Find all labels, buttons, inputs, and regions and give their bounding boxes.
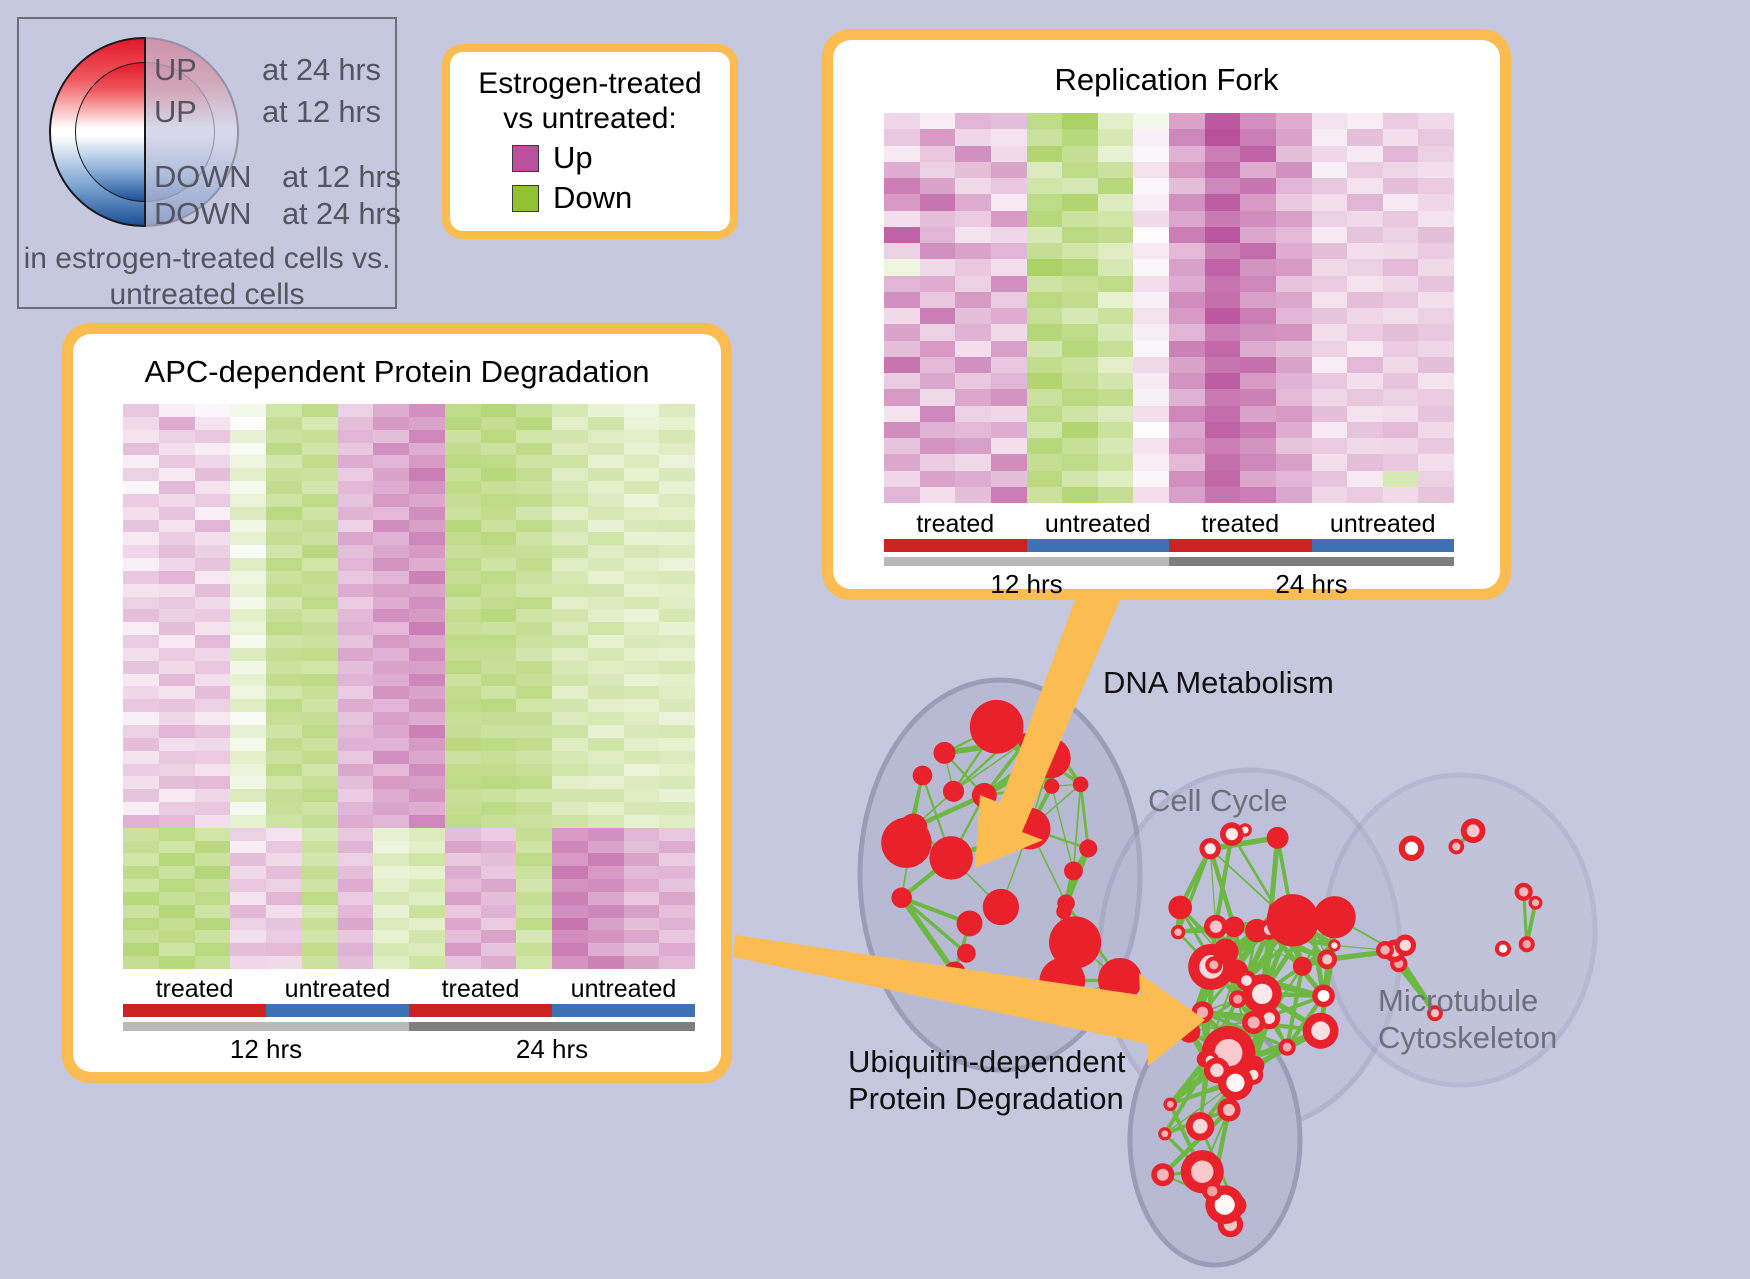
- network-node[interactable]: [1399, 835, 1425, 861]
- network-node[interactable]: [970, 700, 1024, 754]
- treatment-bar-segment: [552, 1004, 695, 1017]
- heatmap-cell: [1098, 162, 1134, 178]
- heatmap-cell: [409, 892, 445, 905]
- heatmap-cell: [195, 532, 231, 545]
- heatmap-cell: [230, 417, 266, 430]
- heatmap-cell: [588, 879, 624, 892]
- heatmap-cell: [1418, 438, 1454, 454]
- heatmap-cell: [920, 194, 956, 210]
- heatmap-cell: [659, 532, 695, 545]
- network-node[interactable]: [1204, 1057, 1230, 1083]
- heatmap-cell: [588, 686, 624, 699]
- heatmap-cell: [230, 532, 266, 545]
- heatmap-cell: [991, 227, 1027, 243]
- heatmap-cell: [481, 879, 517, 892]
- network-node[interactable]: [1199, 838, 1220, 859]
- heatmap-cell: [955, 243, 991, 259]
- node-inner: [1226, 828, 1238, 840]
- network-node[interactable]: [1312, 984, 1335, 1007]
- heatmap-cell: [123, 764, 159, 777]
- heatmap-cell: [159, 443, 195, 456]
- network-node[interactable]: [944, 962, 966, 984]
- heatmap-cell: [195, 686, 231, 699]
- heatmap-cell: [338, 494, 374, 507]
- heatmap-cell: [884, 243, 920, 259]
- heatmap-cell: [338, 828, 374, 841]
- heatmap-cell: [123, 609, 159, 622]
- heatmap-cell: [1383, 227, 1419, 243]
- heatmap-cell: [338, 853, 374, 866]
- cluster-label-microtubule-cytoskeleton: Microtubule Cytoskeleton: [1378, 982, 1557, 1056]
- heatmap-cell: [588, 417, 624, 430]
- network-node[interactable]: [929, 836, 972, 879]
- network-node[interactable]: [1267, 827, 1289, 849]
- heatmap-cell: [1169, 276, 1205, 292]
- heatmap-cell: [338, 532, 374, 545]
- heatmap-cell: [552, 507, 588, 520]
- heatmap-cell: [552, 853, 588, 866]
- heatmap-cell: [1169, 243, 1205, 259]
- heatmap-cell: [1312, 276, 1348, 292]
- heatmap-cell: [373, 609, 409, 622]
- heatmap-cell: [1276, 178, 1312, 194]
- heatmap-cell: [659, 930, 695, 943]
- timepoint-labels: 12 hrs24 hrs: [123, 1034, 695, 1065]
- axis-group-label: treated: [409, 975, 552, 1004]
- heatmap-cell: [373, 494, 409, 507]
- heatmap-cell: [1347, 487, 1383, 503]
- heatmap-cell: [552, 609, 588, 622]
- heatmap-cell: [302, 443, 338, 456]
- network-node[interactable]: [943, 781, 964, 802]
- network-node[interactable]: [1519, 936, 1535, 952]
- network-node[interactable]: [913, 766, 933, 786]
- heatmap-cell: [159, 455, 195, 468]
- heatmap-cell: [588, 956, 624, 969]
- heatmap-cell: [1383, 471, 1419, 487]
- heatmap-cell: [624, 635, 660, 648]
- heatmap-cell: [230, 520, 266, 533]
- node-inner: [1499, 944, 1507, 952]
- heatmap-cell: [481, 635, 517, 648]
- heatmap-cell: [588, 943, 624, 956]
- heatmap-cell: [159, 686, 195, 699]
- heatmap-cell: [552, 622, 588, 635]
- node-outer: [929, 836, 972, 879]
- heatmap-cell: [1347, 243, 1383, 259]
- heatmap-cell: [481, 776, 517, 789]
- network-node[interactable]: [1314, 896, 1356, 938]
- heatmap-cell: [955, 341, 991, 357]
- heatmap-cell: [338, 943, 374, 956]
- heatmap-cell: [991, 471, 1027, 487]
- heatmap-cell: [159, 879, 195, 892]
- heatmap-cell: [991, 422, 1027, 438]
- heatmap-cell: [1133, 308, 1169, 324]
- heatmap-cell: [373, 430, 409, 443]
- heatmap-cell: [195, 545, 231, 558]
- network-node[interactable]: [1168, 896, 1192, 920]
- heatmap-cell: [516, 930, 552, 943]
- heatmap-cell: [659, 648, 695, 661]
- heatmap-cell: [884, 178, 920, 194]
- heatmap-cell: [1027, 129, 1063, 145]
- heatmap-cell: [195, 866, 231, 879]
- heatmap-cell: [1169, 406, 1205, 422]
- network-node[interactable]: [1224, 917, 1245, 938]
- heatmap-cell: [552, 828, 588, 841]
- heatmap-cell: [624, 789, 660, 802]
- network-node[interactable]: [1079, 839, 1097, 857]
- heatmap-cell: [195, 905, 231, 918]
- heatmap-cell: [266, 751, 302, 764]
- heatmap-cell: [1133, 438, 1169, 454]
- heatmap-cell: [373, 584, 409, 597]
- heatmap-cell: [1062, 129, 1098, 145]
- heatmap-cell: [516, 866, 552, 879]
- heatmap-cell: [195, 802, 231, 815]
- network-node[interactable]: [1529, 896, 1543, 910]
- heatmap-cell: [516, 751, 552, 764]
- network-node[interactable]: [1220, 822, 1244, 846]
- network-node[interactable]: [1163, 1097, 1177, 1111]
- heatmap-cell: [920, 422, 956, 438]
- heatmap-cell: [1062, 292, 1098, 308]
- network-node[interactable]: [933, 742, 955, 764]
- network-node[interactable]: [972, 783, 997, 808]
- heatmap-cell: [302, 764, 338, 777]
- panel-apc-card: APC-dependent Protein Degradation treate…: [73, 334, 721, 1072]
- network-node[interactable]: [1303, 1013, 1339, 1049]
- heatmap-cell: [409, 494, 445, 507]
- heatmap-cell: [266, 584, 302, 597]
- network-node[interactable]: [1267, 894, 1319, 946]
- heatmap-cell: [302, 802, 338, 815]
- heatmap-cell: [195, 635, 231, 648]
- heatmap-cell: [1062, 113, 1098, 129]
- heatmap-cell: [373, 699, 409, 712]
- heatmap-cell: [159, 751, 195, 764]
- network-node[interactable]: [1009, 808, 1051, 850]
- network-node[interactable]: [1151, 1163, 1174, 1186]
- network-node[interactable]: [891, 888, 912, 909]
- heatmap-cell: [552, 879, 588, 892]
- heatmap-cell: [123, 879, 159, 892]
- heatmap-cell: [195, 622, 231, 635]
- heatmap-cell: [1418, 292, 1454, 308]
- network-node[interactable]: [1461, 818, 1486, 843]
- network-node[interactable]: [1394, 935, 1416, 957]
- heatmap-cell: [159, 866, 195, 879]
- heatmap-cell: [624, 545, 660, 558]
- heatmap-cell: [1098, 259, 1134, 275]
- heatmap-cell: [1133, 194, 1169, 210]
- heatmap-cell: [373, 520, 409, 533]
- heatmap-cell: [588, 532, 624, 545]
- heatmap-cell: [1347, 341, 1383, 357]
- heatmap-cell: [1383, 308, 1419, 324]
- heatmap-cell: [409, 571, 445, 584]
- down-legend-label: Down: [553, 180, 632, 216]
- heatmap-cell: [445, 751, 481, 764]
- heatmap-cell: [1312, 146, 1348, 162]
- heatmap-cell: [516, 597, 552, 610]
- heatmap-cell: [123, 776, 159, 789]
- network-node[interactable]: [1236, 970, 1256, 990]
- heatmap-cell: [373, 545, 409, 558]
- axis-group-label: treated: [884, 510, 1027, 539]
- panel-replication-fork-card: Replication Fork treateduntreatedtreated…: [833, 40, 1500, 589]
- heatmap-cell: [1383, 194, 1419, 210]
- network-node[interactable]: [1217, 1098, 1240, 1121]
- heatmap-cell: [1418, 389, 1454, 405]
- heatmap-cell: [302, 905, 338, 918]
- heatmap-cell: [1276, 113, 1312, 129]
- heatmap-cell: [1133, 389, 1169, 405]
- heatmap-cell: [588, 648, 624, 661]
- heatmap-cell: [624, 648, 660, 661]
- heatmap-cell: [1133, 422, 1169, 438]
- heatmap-cell: [123, 738, 159, 751]
- network-node[interactable]: [899, 813, 927, 841]
- heatmap-cell: [1240, 243, 1276, 259]
- heatmap-cell: [123, 494, 159, 507]
- timepoint-bar: [884, 557, 1454, 566]
- network-node[interactable]: [957, 944, 976, 963]
- heatmap-cell: [195, 853, 231, 866]
- heatmap-cell: [445, 520, 481, 533]
- heatmap-cell: [516, 481, 552, 494]
- heatmap-cell: [481, 404, 517, 417]
- network-node[interactable]: [1328, 939, 1340, 951]
- heatmap-cell: [516, 571, 552, 584]
- node-inner: [1331, 942, 1337, 948]
- heatmap-cell: [338, 507, 374, 520]
- treatment-bar-segment: [266, 1004, 409, 1017]
- heatmap-cell: [624, 776, 660, 789]
- network-node[interactable]: [1158, 1127, 1171, 1140]
- heatmap-cell: [445, 622, 481, 635]
- heatmap-cell: [1418, 357, 1454, 373]
- heatmap-cell: [266, 712, 302, 725]
- heatmap-cell: [920, 178, 956, 194]
- heatmap-cell: [552, 738, 588, 751]
- heatmap-cell: [1169, 438, 1205, 454]
- heatmap-cell: [991, 308, 1027, 324]
- heatmap-cell: [1062, 454, 1098, 470]
- heatmap-cell: [1312, 324, 1348, 340]
- network-node[interactable]: [1044, 779, 1059, 794]
- heatmap-cell: [1027, 211, 1063, 227]
- heatmap-cell: [1347, 276, 1383, 292]
- heatmap-cell: [624, 943, 660, 956]
- heatmap-cell: [409, 802, 445, 815]
- network-node[interactable]: [1171, 925, 1185, 939]
- heatmap-cell: [1098, 324, 1134, 340]
- heatmap-cell: [1098, 373, 1134, 389]
- heatmap-cell: [1062, 406, 1098, 422]
- heatmap-cell: [302, 725, 338, 738]
- heatmap-cell: [1312, 227, 1348, 243]
- heatmap-cell: [659, 430, 695, 443]
- node-inner: [1241, 975, 1252, 986]
- network-node[interactable]: [1229, 990, 1247, 1008]
- heatmap-cell: [159, 712, 195, 725]
- heatmap-cell: [1383, 276, 1419, 292]
- heatmap-cell: [481, 918, 517, 931]
- node-inner: [1311, 1021, 1330, 1040]
- heatmap-cell: [884, 113, 920, 129]
- heatmap-cell: [159, 776, 195, 789]
- legend-up-12-label: UP: [154, 94, 197, 130]
- heatmap-cell: [588, 725, 624, 738]
- heatmap-cell: [445, 417, 481, 430]
- heatmap-cell: [338, 520, 374, 533]
- heatmap-cell: [445, 841, 481, 854]
- heatmap-cell: [1133, 113, 1169, 129]
- heatmap-cell: [1312, 471, 1348, 487]
- legend-down-12-label: DOWN: [154, 159, 251, 195]
- heatmap-cell: [1205, 422, 1241, 438]
- heatmap-cell: [588, 930, 624, 943]
- heatmap-cell: [230, 468, 266, 481]
- network-node[interactable]: [1057, 894, 1075, 912]
- heatmap-cell: [588, 545, 624, 558]
- heatmap-cell: [481, 866, 517, 879]
- heatmap-cell: [1312, 422, 1348, 438]
- heatmap-cell: [373, 905, 409, 918]
- network-node[interactable]: [1293, 957, 1312, 976]
- node-inner: [1322, 954, 1332, 964]
- heatmap-cell: [159, 622, 195, 635]
- heatmap-cell: [588, 866, 624, 879]
- heatmap-cell: [266, 930, 302, 943]
- heatmap-cell: [1027, 276, 1063, 292]
- heatmap-cell: [1098, 487, 1134, 503]
- heatmap-cell: [230, 481, 266, 494]
- heatmap-cell: [1169, 227, 1205, 243]
- heatmap-cell: [624, 584, 660, 597]
- heatmap-cell: [481, 674, 517, 687]
- heatmap-cell: [516, 674, 552, 687]
- heatmap-cell: [659, 802, 695, 815]
- heatmap-cell: [659, 622, 695, 635]
- network-node[interactable]: [1317, 950, 1337, 970]
- node-outer: [913, 766, 933, 786]
- heatmap-cell: [659, 468, 695, 481]
- network-node[interactable]: [1515, 883, 1533, 901]
- heatmap-cell: [624, 571, 660, 584]
- heatmap-cell: [1027, 292, 1063, 308]
- heatmap-cell: [445, 507, 481, 520]
- heatmap-cell: [991, 276, 1027, 292]
- heatmap-cell: [230, 674, 266, 687]
- heatmap-cell: [338, 892, 374, 905]
- network-node[interactable]: [1376, 941, 1394, 959]
- heatmap-cell: [409, 879, 445, 892]
- network-node[interactable]: [1073, 777, 1089, 793]
- network-node[interactable]: [1178, 1021, 1200, 1043]
- heatmap-cell: [230, 879, 266, 892]
- heatmap-cell: [1169, 389, 1205, 405]
- heatmap-cell: [955, 276, 991, 292]
- heatmap-cell: [302, 520, 338, 533]
- network-node[interactable]: [983, 889, 1019, 925]
- network-node[interactable]: [1202, 1181, 1222, 1201]
- network-node[interactable]: [1448, 839, 1464, 855]
- timepoint-bar-segment: [123, 1022, 409, 1031]
- heatmap-cell: [1347, 259, 1383, 275]
- heatmap-cell: [338, 956, 374, 969]
- network-node[interactable]: [1205, 956, 1222, 973]
- heatmap-cell: [659, 661, 695, 674]
- heatmap-cell: [1418, 113, 1454, 129]
- heatmap-cell: [373, 853, 409, 866]
- heatmap-cell: [1418, 308, 1454, 324]
- heatmap-cell: [230, 853, 266, 866]
- network-node[interactable]: [1040, 958, 1086, 1004]
- network-node[interactable]: [957, 910, 983, 936]
- network-node[interactable]: [1098, 958, 1142, 1002]
- heatmap-cell: [195, 417, 231, 430]
- heatmap-cell: [516, 635, 552, 648]
- heatmap-cell: [1418, 422, 1454, 438]
- heatmap-cell: [123, 751, 159, 764]
- heatmap-cell: [445, 635, 481, 648]
- heatmap-cell: [1027, 308, 1063, 324]
- node-outer: [1040, 958, 1086, 1004]
- heatmap-cell: [373, 738, 409, 751]
- heatmap-cell: [338, 635, 374, 648]
- heatmap-cell: [1418, 146, 1454, 162]
- heatmap-cell: [552, 494, 588, 507]
- heatmap-cell: [1276, 243, 1312, 259]
- heatmap-cell: [1347, 129, 1383, 145]
- network-node[interactable]: [1242, 1011, 1265, 1034]
- heatmap-cell: [516, 545, 552, 558]
- down-color-swatch: [512, 185, 539, 212]
- heatmap-cell: [266, 507, 302, 520]
- network-node[interactable]: [1192, 1001, 1214, 1023]
- heatmap-cell: [552, 866, 588, 879]
- network-node[interactable]: [1064, 861, 1083, 880]
- heatmap-cell: [1133, 487, 1169, 503]
- heatmap-cell: [1312, 308, 1348, 324]
- heatmap-cell: [1383, 162, 1419, 178]
- heatmap-cell: [659, 699, 695, 712]
- heatmap-cell: [195, 468, 231, 481]
- heatmap-cell: [266, 622, 302, 635]
- timepoint-bar-segment: [884, 557, 1169, 566]
- heatmap-cell: [624, 455, 660, 468]
- heatmap-cell: [266, 417, 302, 430]
- heatmap-cell: [1062, 308, 1098, 324]
- network-node[interactable]: [1279, 1039, 1296, 1056]
- network-node[interactable]: [1495, 941, 1511, 957]
- heatmap-cell: [230, 789, 266, 802]
- node-inner: [1157, 1169, 1169, 1181]
- heatmap-cell: [1169, 162, 1205, 178]
- updown-legend-title: Estrogen-treated vs untreated:: [466, 66, 714, 136]
- heatmap-cell: [516, 853, 552, 866]
- network-node[interactable]: [1186, 1112, 1214, 1140]
- network-node[interactable]: [1030, 738, 1071, 779]
- heatmap-cell: [516, 609, 552, 622]
- node-inner: [1532, 899, 1539, 906]
- heatmap-cell: [338, 481, 374, 494]
- network-node[interactable]: [1007, 731, 1020, 744]
- heatmap-cell: [445, 789, 481, 802]
